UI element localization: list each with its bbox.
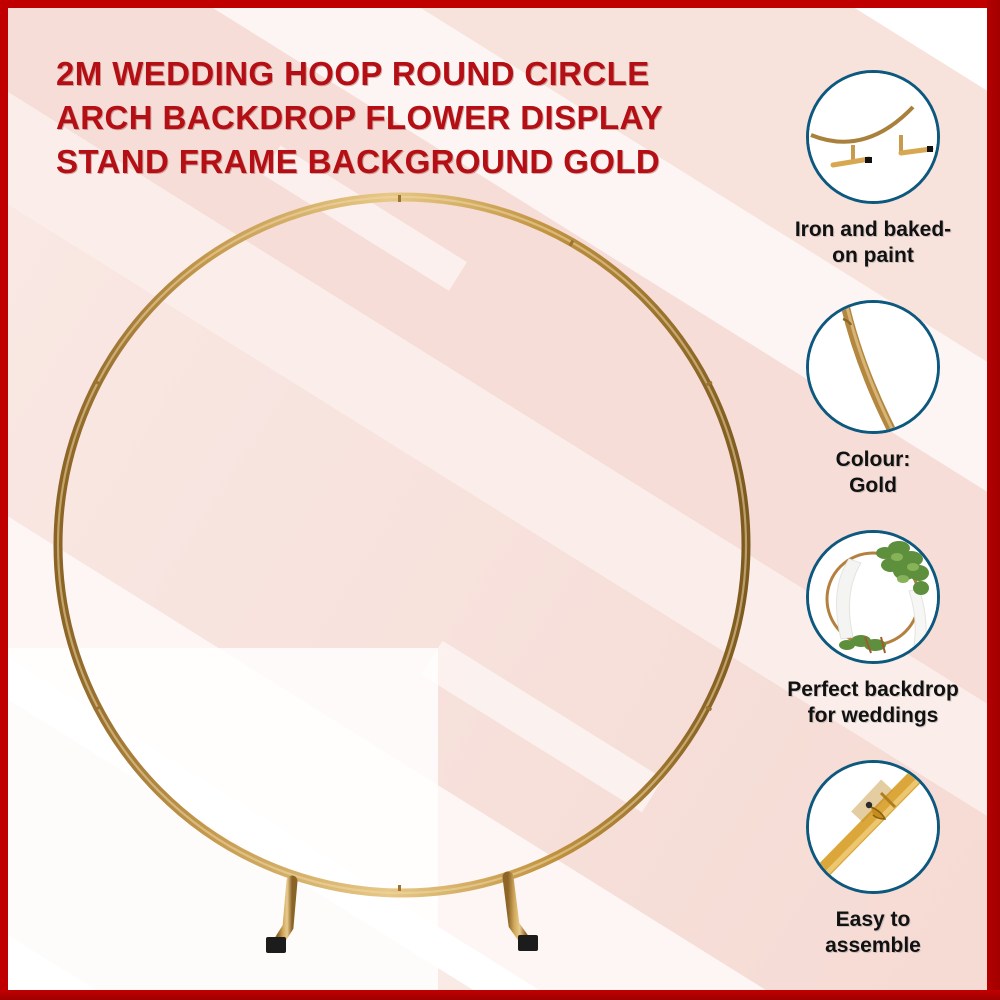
feature-item-perfect-backdrop: Perfect backdrop for weddings [759, 530, 987, 760]
feature-label-3-line-2: for weddings [766, 703, 981, 729]
hoop-ring [58, 197, 746, 893]
feature-item-iron-baked-paint: Iron and baked- on paint [759, 70, 987, 300]
feature-item-easy-assemble: Easy to assemble [759, 760, 987, 990]
hoop-base-feet-closeup-icon [806, 70, 940, 204]
feature-label-4: Easy to assemble [766, 907, 981, 959]
decorated-wedding-hoop-icon [806, 530, 940, 664]
feature-label-2-line-1: Colour: [766, 447, 981, 473]
stand-foot-right [518, 935, 538, 951]
border-right [987, 0, 1000, 1000]
feature-label-1-line-2: on paint [766, 243, 981, 269]
feature-item-colour-gold: Colour: Gold [759, 300, 987, 530]
feature-label-1-line-1: Iron and baked- [766, 217, 981, 243]
stand-foot-left [266, 937, 286, 953]
gold-tube-closeup-icon [806, 300, 940, 434]
border-left [0, 0, 8, 1000]
stand-leg-right [508, 877, 538, 951]
product-title: 2M WEDDING HOOP ROUND CIRCLE ARCH BACKDR… [56, 52, 746, 184]
feature-label-2: Colour: Gold [766, 447, 981, 499]
feature-label-3-line-1: Perfect backdrop [766, 677, 981, 703]
feature-label-3: Perfect backdrop for weddings [766, 677, 981, 729]
badge-art-4 [809, 763, 937, 891]
product-image-gold-circle-hoop [40, 185, 770, 965]
title-line-2: ARCH BACKDROP FLOWER DISPLAY [56, 96, 746, 140]
feature-label-1: Iron and baked- on paint [766, 217, 981, 269]
gold-hoop-svg [40, 185, 770, 965]
badge-art-2 [809, 303, 937, 431]
title-line-1: 2M WEDDING HOOP ROUND CIRCLE [56, 52, 746, 96]
stand-leg-left [266, 881, 292, 953]
feature-label-2-line-2: Gold [766, 473, 981, 499]
feature-list: Iron and baked- on paint Colour: Gold [759, 8, 987, 990]
feature-label-4-line-2: assemble [766, 933, 981, 959]
feature-label-4-line-1: Easy to [766, 907, 981, 933]
border-top [0, 0, 1000, 8]
tube-connector-joint-icon [806, 760, 940, 894]
hoop-joint-marks [94, 195, 713, 891]
title-line-3: STAND FRAME BACKGROUND GOLD [56, 140, 746, 184]
badge-art-1 [809, 73, 937, 201]
badge-art-3 [809, 533, 937, 661]
border-bottom [0, 990, 1000, 1000]
product-poster: 2M WEDDING HOOP ROUND CIRCLE ARCH BACKDR… [0, 0, 1000, 1000]
